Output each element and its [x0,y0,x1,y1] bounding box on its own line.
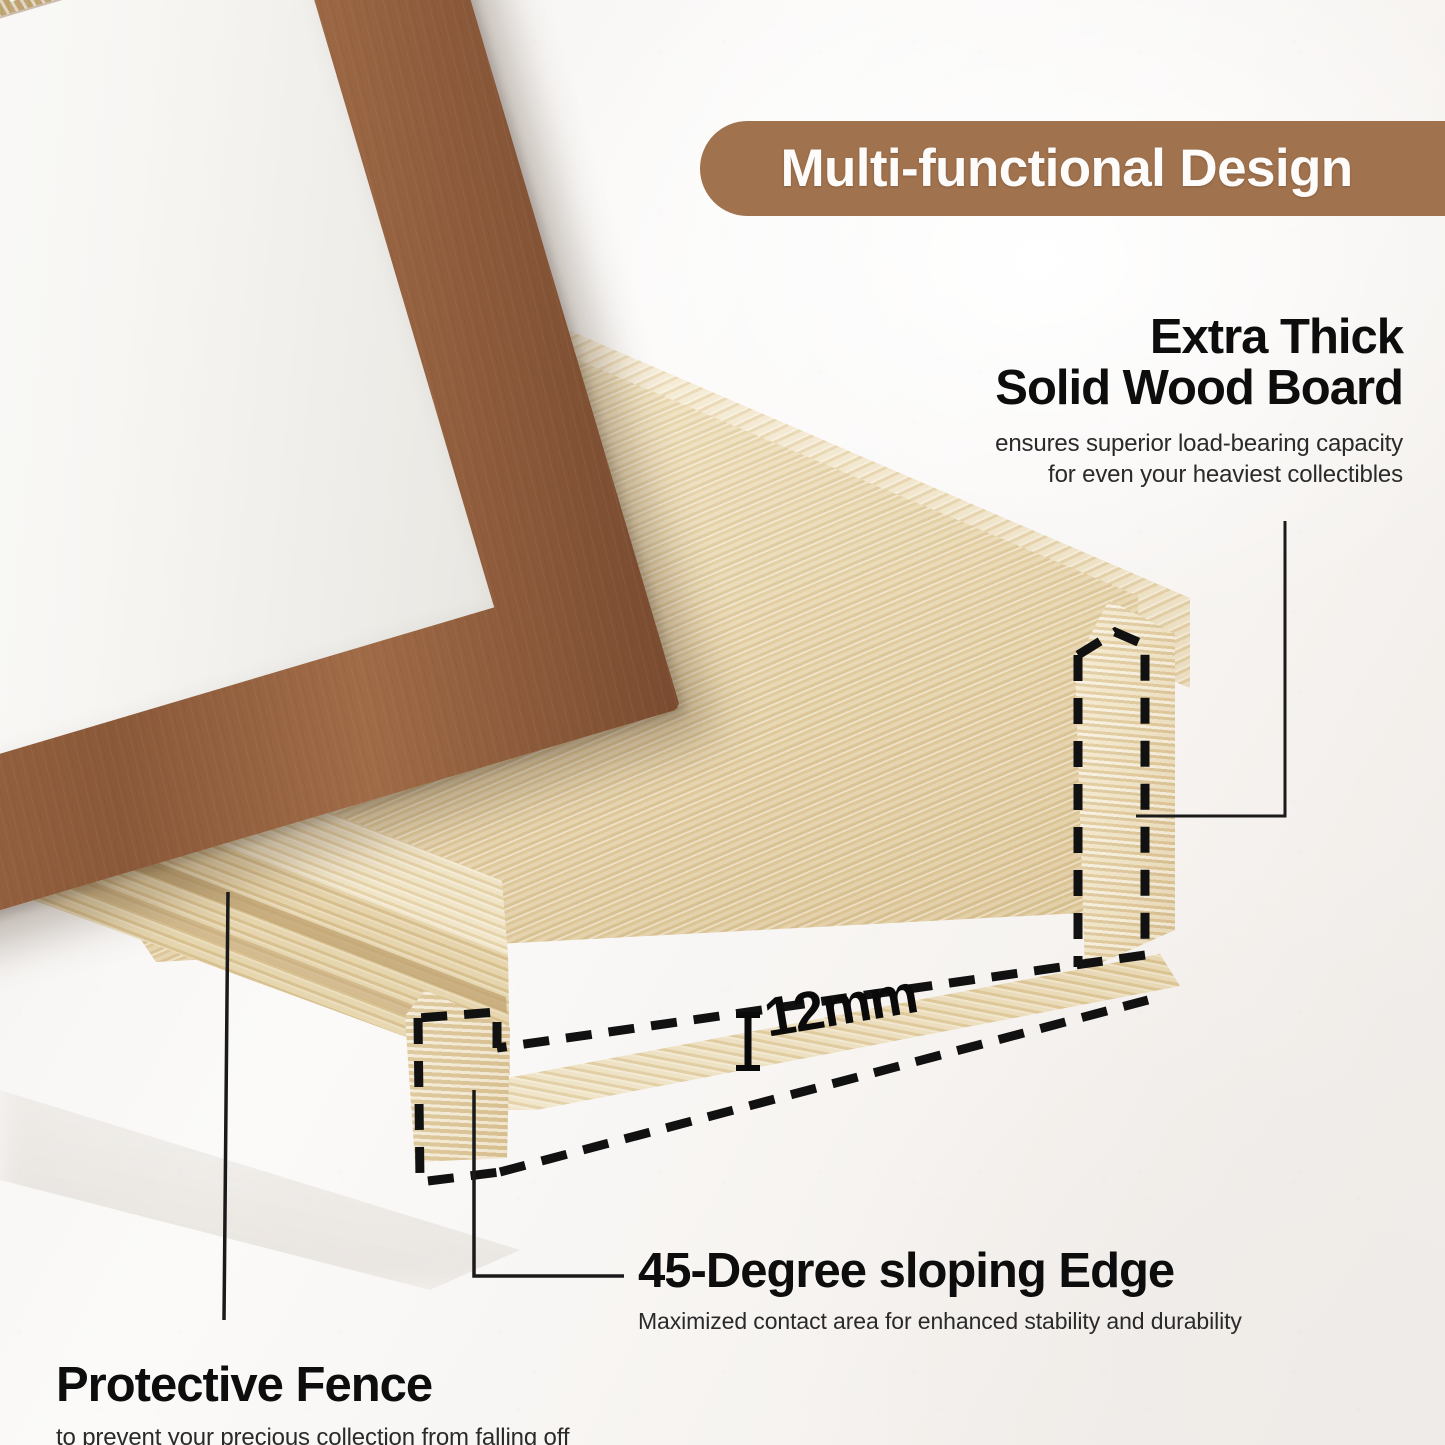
thickness-dimension-bar [736,1015,760,1068]
leader-line-extra-thick [1136,521,1285,816]
annotation-overlay [0,0,1445,1445]
callout-sloping-edge: 45-Degree sloping Edge Maximized contact… [638,1246,1242,1337]
callout-extra-thick-sub-line1: ensures superior load-bearing capacity [995,428,1403,459]
title-banner-label: Multi-functional Design [780,138,1352,199]
callout-extra-thick-subtitle: ensures superior load-bearing capacity f… [995,428,1403,490]
callout-sloping-edge-subtitle: Maximized contact area for enhanced stab… [638,1307,1242,1337]
product-feature-image: 12mm Multi-functional Design Extra Thick… [0,0,1445,1445]
callout-protective-fence-title: Protective Fence [56,1360,569,1411]
title-banner: Multi-functional Design [700,121,1445,216]
callout-protective-fence: Protective Fence to prevent your preciou… [56,1360,569,1445]
leader-line-45-degree [474,1090,624,1276]
callout-extra-thick-title-line1: Extra Thick [995,312,1403,363]
callout-protective-fence-subtitle: to prevent your precious collection from… [56,1422,569,1445]
board-profile-dashed-outline [418,632,1148,1182]
callout-extra-thick-title: Extra Thick Solid Wood Board [995,312,1403,414]
leader-line-protective-fence [224,892,228,1320]
callout-extra-thick: Extra Thick Solid Wood Board ensures sup… [995,312,1403,490]
callout-extra-thick-sub-line2: for even your heaviest collectibles [995,459,1403,490]
callout-extra-thick-title-line2: Solid Wood Board [995,363,1403,414]
callout-sloping-edge-title: 45-Degree sloping Edge [638,1246,1242,1297]
